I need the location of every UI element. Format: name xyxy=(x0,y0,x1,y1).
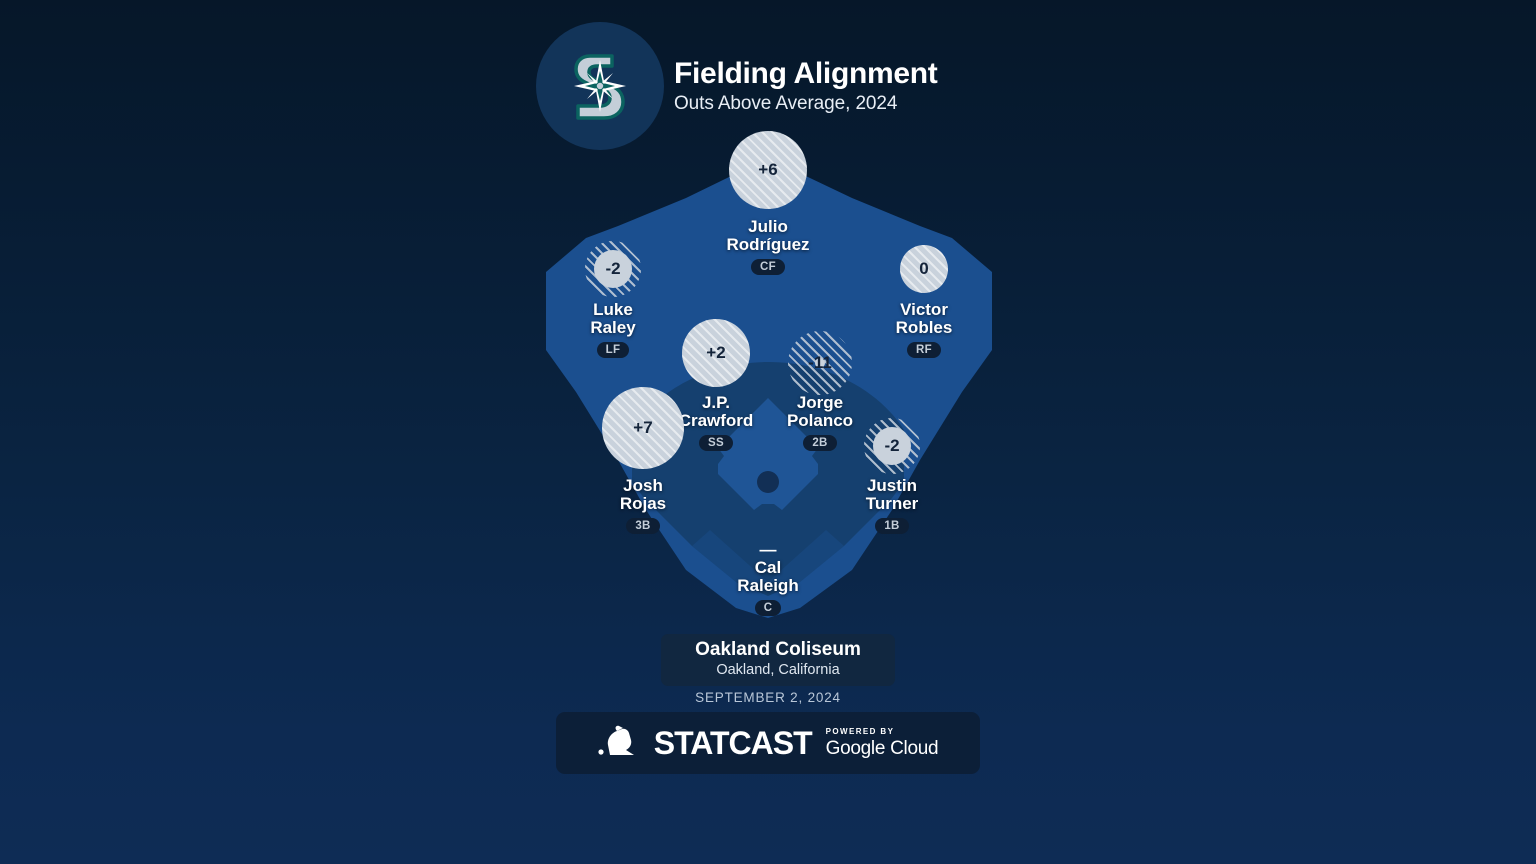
page-subtitle: Outs Above Average, 2024 xyxy=(674,93,937,115)
position-badge: C xyxy=(755,600,782,616)
oaa-value-label: +6 xyxy=(758,160,777,180)
player-name: Cal Raleigh xyxy=(668,559,868,595)
position-badge: RF xyxy=(907,342,941,358)
statcast-wordmark: STATCAST xyxy=(654,725,812,762)
powered-by-label: POWERED BY xyxy=(826,728,895,736)
oaa-value-label: +7 xyxy=(633,418,652,438)
player-name: Justin Turner xyxy=(792,477,992,513)
player-name: Josh Rojas xyxy=(543,477,743,513)
player-marker-3b[interactable]: +7Josh Rojas3B xyxy=(543,477,743,534)
position-badge-wrap: CF xyxy=(668,254,868,275)
header-text: Fielding Alignment Outs Above Average, 2… xyxy=(674,58,937,115)
google-cloud-label: Google Cloud xyxy=(826,739,939,758)
position-badge: 3B xyxy=(626,518,659,534)
position-badge-wrap: RF xyxy=(824,337,1024,358)
player-marker-1b[interactable]: -2Justin Turner1B xyxy=(792,477,992,534)
game-date: SEPTEMBER 2, 2024 xyxy=(0,690,1536,705)
player-name: Julio Rodríguez xyxy=(668,218,868,254)
player-marker-cf[interactable]: +6Julio RodríguezCF xyxy=(668,218,868,275)
statcast-footer-badge: STATCAST POWERED BY Google Cloud xyxy=(556,712,980,774)
oaa-value-label: 0 xyxy=(919,259,928,279)
oaa-value-label: -2 xyxy=(884,436,899,456)
oaa-value-label: -2 xyxy=(605,259,620,279)
position-badge: CF xyxy=(751,259,785,275)
venue-location: Oakland, California xyxy=(671,662,885,678)
oaa-value-label: +2 xyxy=(706,343,725,363)
page-title: Fielding Alignment xyxy=(674,58,937,90)
venue-name: Oakland Coliseum xyxy=(671,640,885,661)
oaa-value-label: -11 xyxy=(808,353,832,373)
player-name: Victor Robles xyxy=(824,301,1024,337)
fielding-alignment-graphic: Fielding Alignment Outs Above Average, 2… xyxy=(0,0,1536,864)
oaa-value-label: — xyxy=(760,540,777,560)
position-badge: LF xyxy=(597,342,630,358)
position-badge: 2B xyxy=(803,435,836,451)
position-badge-wrap: C xyxy=(668,595,868,616)
position-badge: 1B xyxy=(875,518,908,534)
venue-block: Oakland Coliseum Oakland, California xyxy=(661,634,895,686)
position-badge-wrap: 3B xyxy=(543,513,743,534)
mlb-batter-silhouette-icon xyxy=(598,724,640,763)
player-name: Luke Raley xyxy=(513,301,713,337)
google-cloud-lockup: POWERED BY Google Cloud xyxy=(826,728,939,758)
player-marker-c[interactable]: —Cal RaleighC xyxy=(668,559,868,616)
player-marker-rf[interactable]: 0Victor RoblesRF xyxy=(824,301,1024,358)
position-badge-wrap: 1B xyxy=(792,513,992,534)
